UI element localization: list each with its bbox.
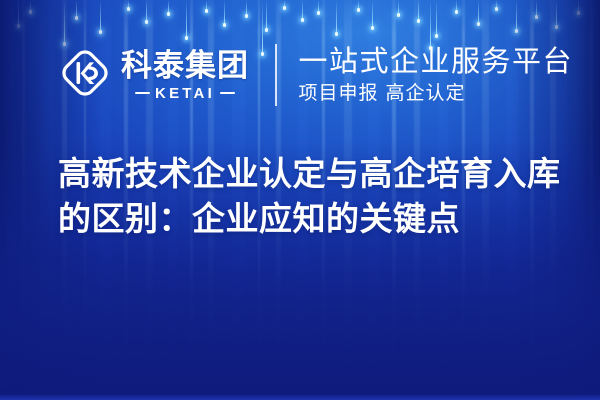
brand-tagline: 一站式企业服务平台 项目申报 高企认定 — [299, 46, 574, 104]
dash-left-icon — [135, 92, 150, 95]
brand-name-en: KETAI — [155, 86, 215, 101]
brand-wordmark: 科泰集团 KETAI — [121, 50, 249, 101]
brand-name-cn: 科泰集团 — [121, 50, 249, 81]
banner-header: 科泰集团 KETAI 一站式企业服务平台 项目申报 高企认定 — [58, 44, 573, 106]
ketai-diamond-k-logo-icon — [58, 46, 112, 105]
brand-logo[interactable]: 科泰集团 KETAI — [58, 46, 249, 105]
brand-name-en-row: KETAI — [135, 86, 235, 101]
tagline-sub: 项目申报 高企认定 — [299, 83, 574, 104]
dash-right-icon — [220, 92, 235, 95]
headline-line-1: 高新技术企业认定与高企培育入库 — [58, 152, 558, 197]
header-divider — [275, 44, 277, 106]
headline-line-2: 的区别：企业应知的关键点 — [58, 197, 558, 242]
headline: 高新技术企业认定与高企培育入库 的区别：企业应知的关键点 — [58, 152, 558, 242]
promo-banner: 科泰集团 KETAI 一站式企业服务平台 项目申报 高企认定 高新技术企业认定与… — [0, 0, 600, 400]
tagline-main: 一站式企业服务平台 — [299, 46, 574, 76]
